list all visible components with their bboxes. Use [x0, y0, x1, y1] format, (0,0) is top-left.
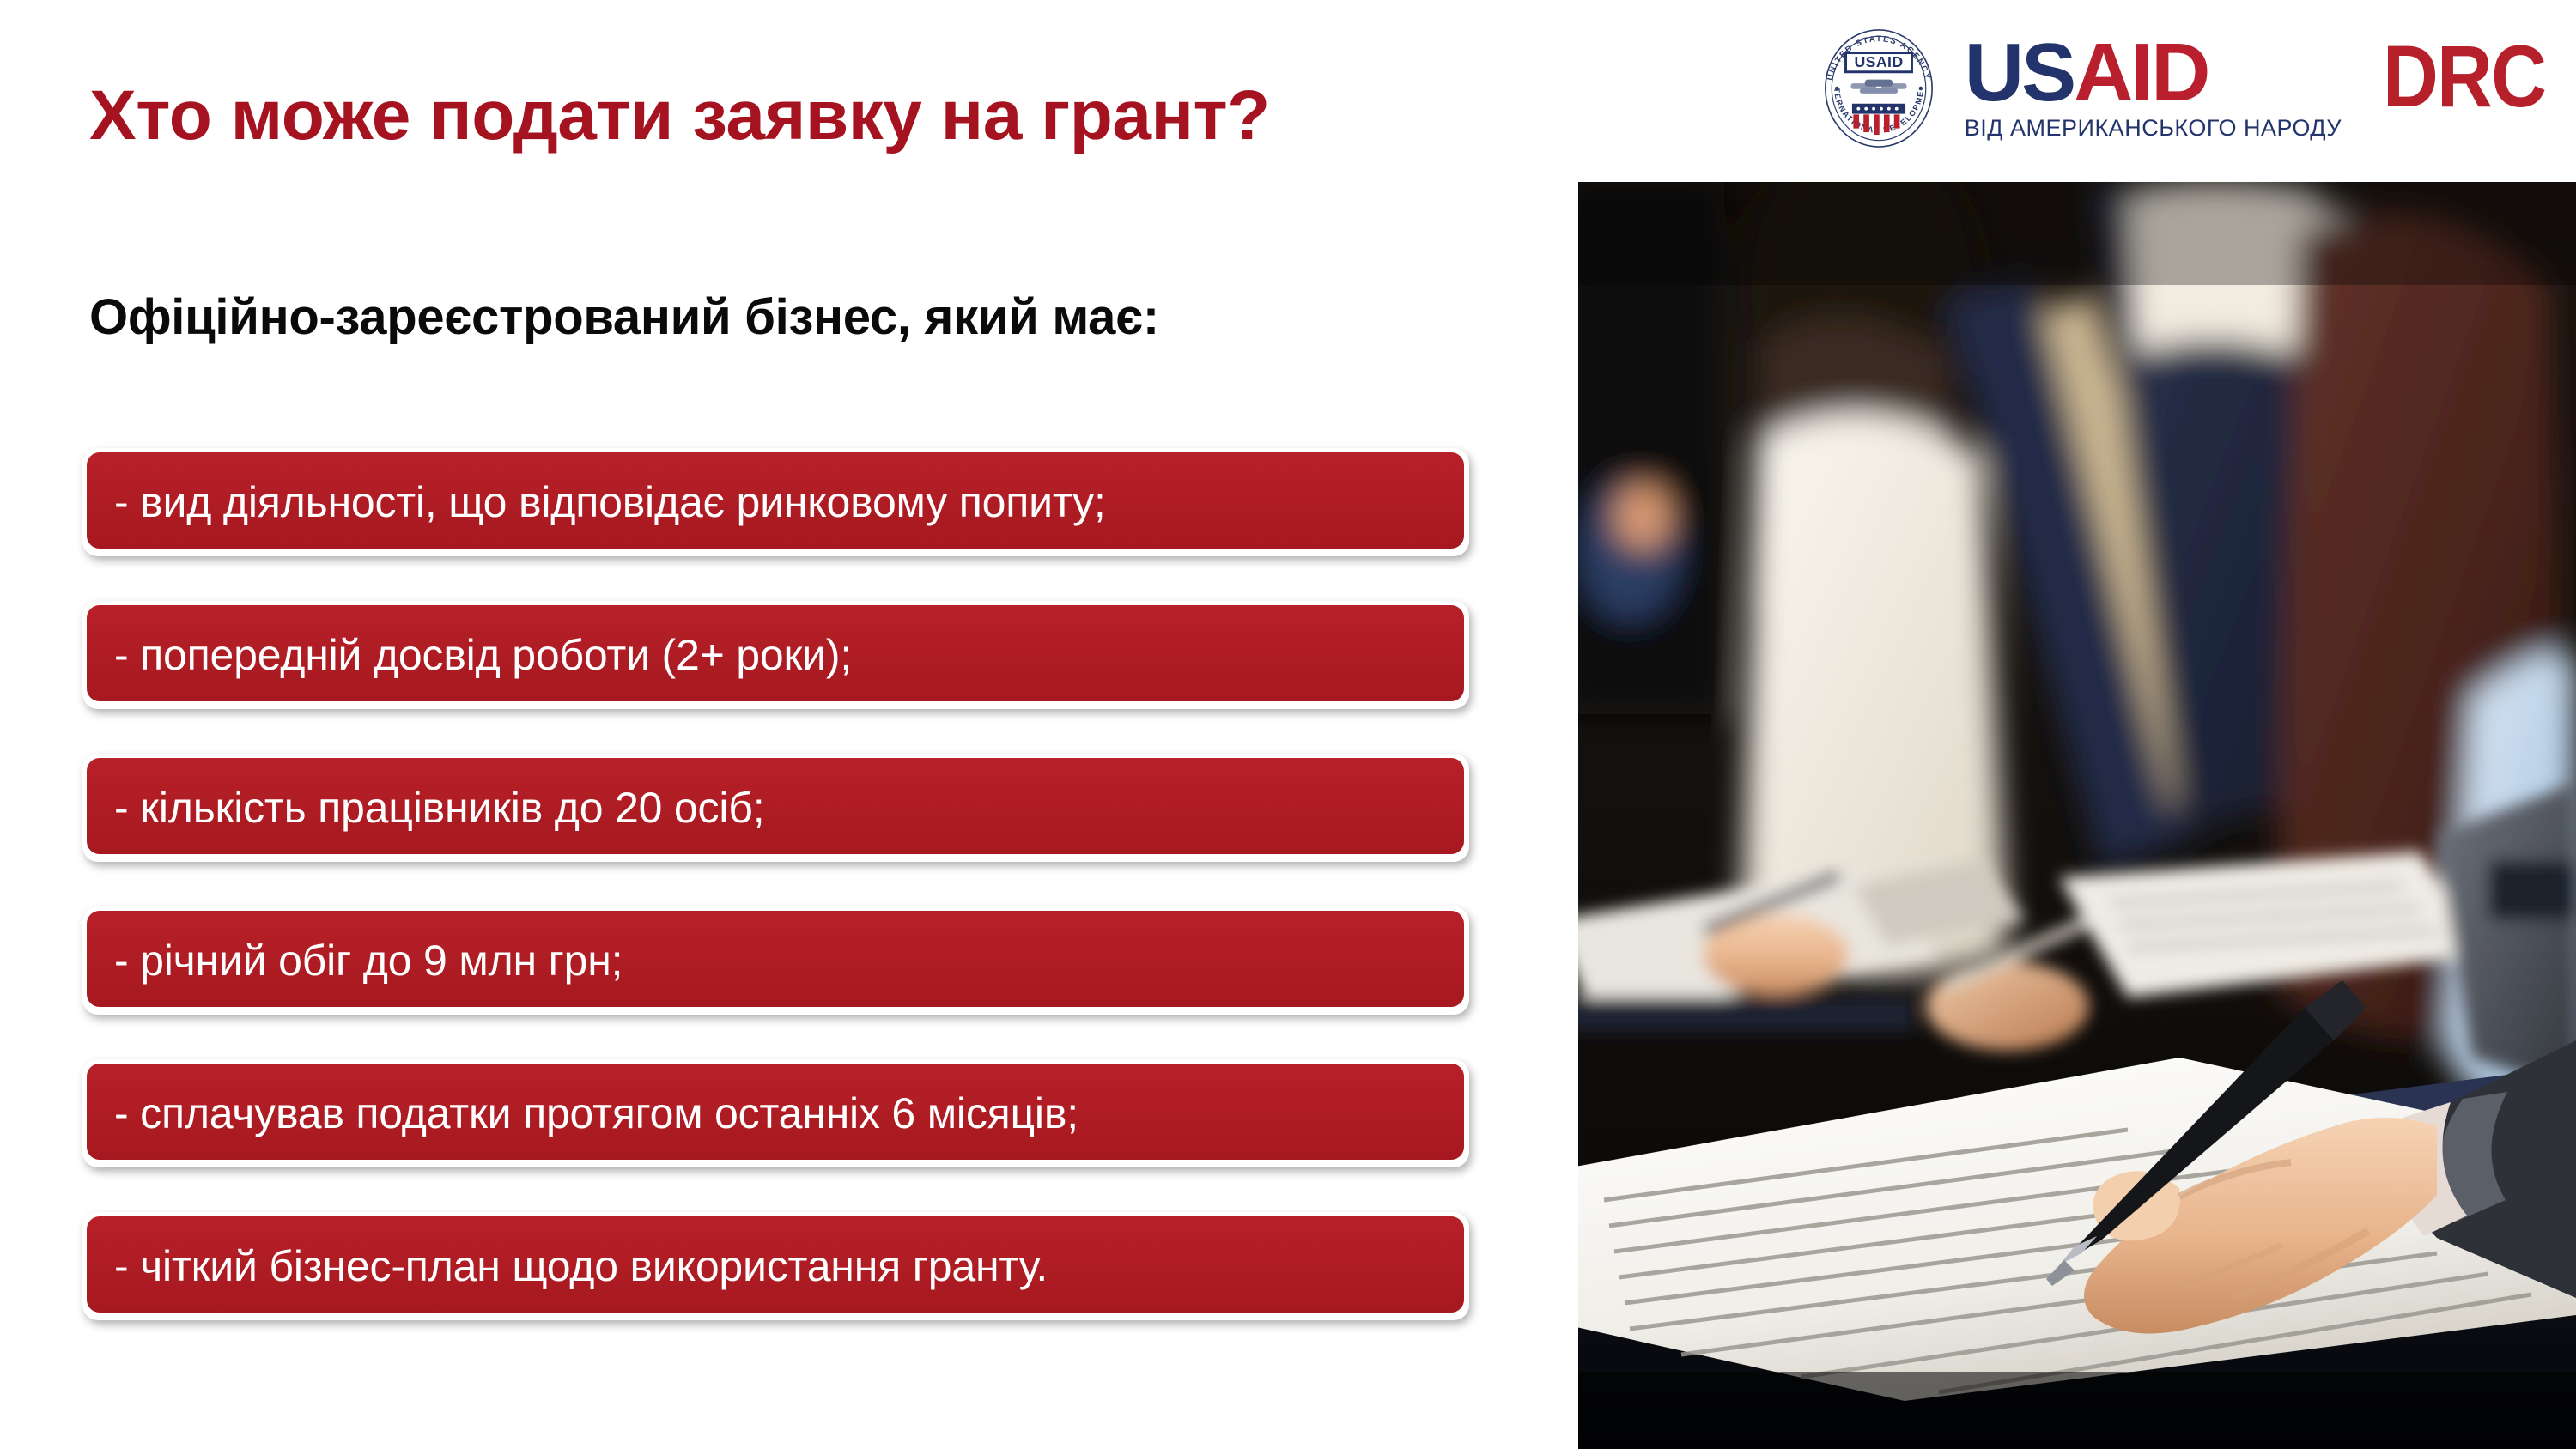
usaid-wordmark: USAID ВІД АМЕРИКАНСЬКОГО НАРОДУ: [1965, 35, 2342, 141]
logo-bar: UNITED STATES AGENCY INTERNATIONAL DEVEL…: [1815, 15, 2567, 161]
list-item-label: - кількість працівників до 20 осіб;: [114, 786, 764, 829]
usaid-word: USAID: [1965, 35, 2342, 111]
list-item-body: - кількість працівників до 20 осіб;: [87, 758, 1464, 854]
list-item-label: - сплачував податки протягом останніх 6 …: [114, 1092, 1078, 1135]
usaid-tagline: ВІД АМЕРИКАНСЬКОГО НАРОДУ: [1965, 115, 2342, 142]
eligibility-criteria-list: - вид діяльності, що відповідає ринковом…: [82, 448, 1482, 1320]
list-item-body: - вид діяльності, що відповідає ринковом…: [87, 452, 1464, 549]
list-item: - чіткий бізнес-план щодо використання г…: [82, 1212, 1469, 1320]
slide: UNITED STATES AGENCY INTERNATIONAL DEVEL…: [0, 0, 2576, 1449]
usaid-word-us: US: [1965, 27, 2074, 118]
drc-wordmark: DRC: [2383, 33, 2545, 120]
list-item: - сплачував податки протягом останніх 6 …: [82, 1059, 1469, 1167]
list-item: - кількість працівників до 20 осіб;: [82, 754, 1469, 862]
subtitle: Офіційно-зареєстрований бізнес, який має…: [89, 288, 1159, 346]
list-item: - річний обіг до 9 млн грн;: [82, 906, 1469, 1015]
list-item: - попередній досвід роботи (2+ роки);: [82, 601, 1469, 709]
list-item-body: - сплачував податки протягом останніх 6 …: [87, 1064, 1464, 1160]
usaid-word-aid: AID: [2074, 27, 2208, 118]
list-item-body: - чіткий бізнес-план щодо використання г…: [87, 1216, 1464, 1313]
list-item-label: - вид діяльності, що відповідає ринковом…: [114, 481, 1106, 524]
list-item-label: - чіткий бізнес-план щодо використання г…: [114, 1245, 1048, 1288]
svg-text:USAID: USAID: [1854, 53, 1903, 70]
usaid-seal-icon: UNITED STATES AGENCY INTERNATIONAL DEVEL…: [1815, 25, 1942, 152]
meeting-photo: [1578, 182, 2576, 1449]
list-item-body: - річний обіг до 9 млн грн;: [87, 911, 1464, 1007]
list-item: - вид діяльності, що відповідає ринковом…: [82, 448, 1469, 556]
list-item-label: - попередній досвід роботи (2+ роки);: [114, 634, 852, 676]
page-title: Хто може подати заявку на грант?: [89, 76, 1270, 156]
list-item-label: - річний обіг до 9 млн грн;: [114, 939, 623, 982]
list-item-body: - попередній досвід роботи (2+ роки);: [87, 605, 1464, 701]
